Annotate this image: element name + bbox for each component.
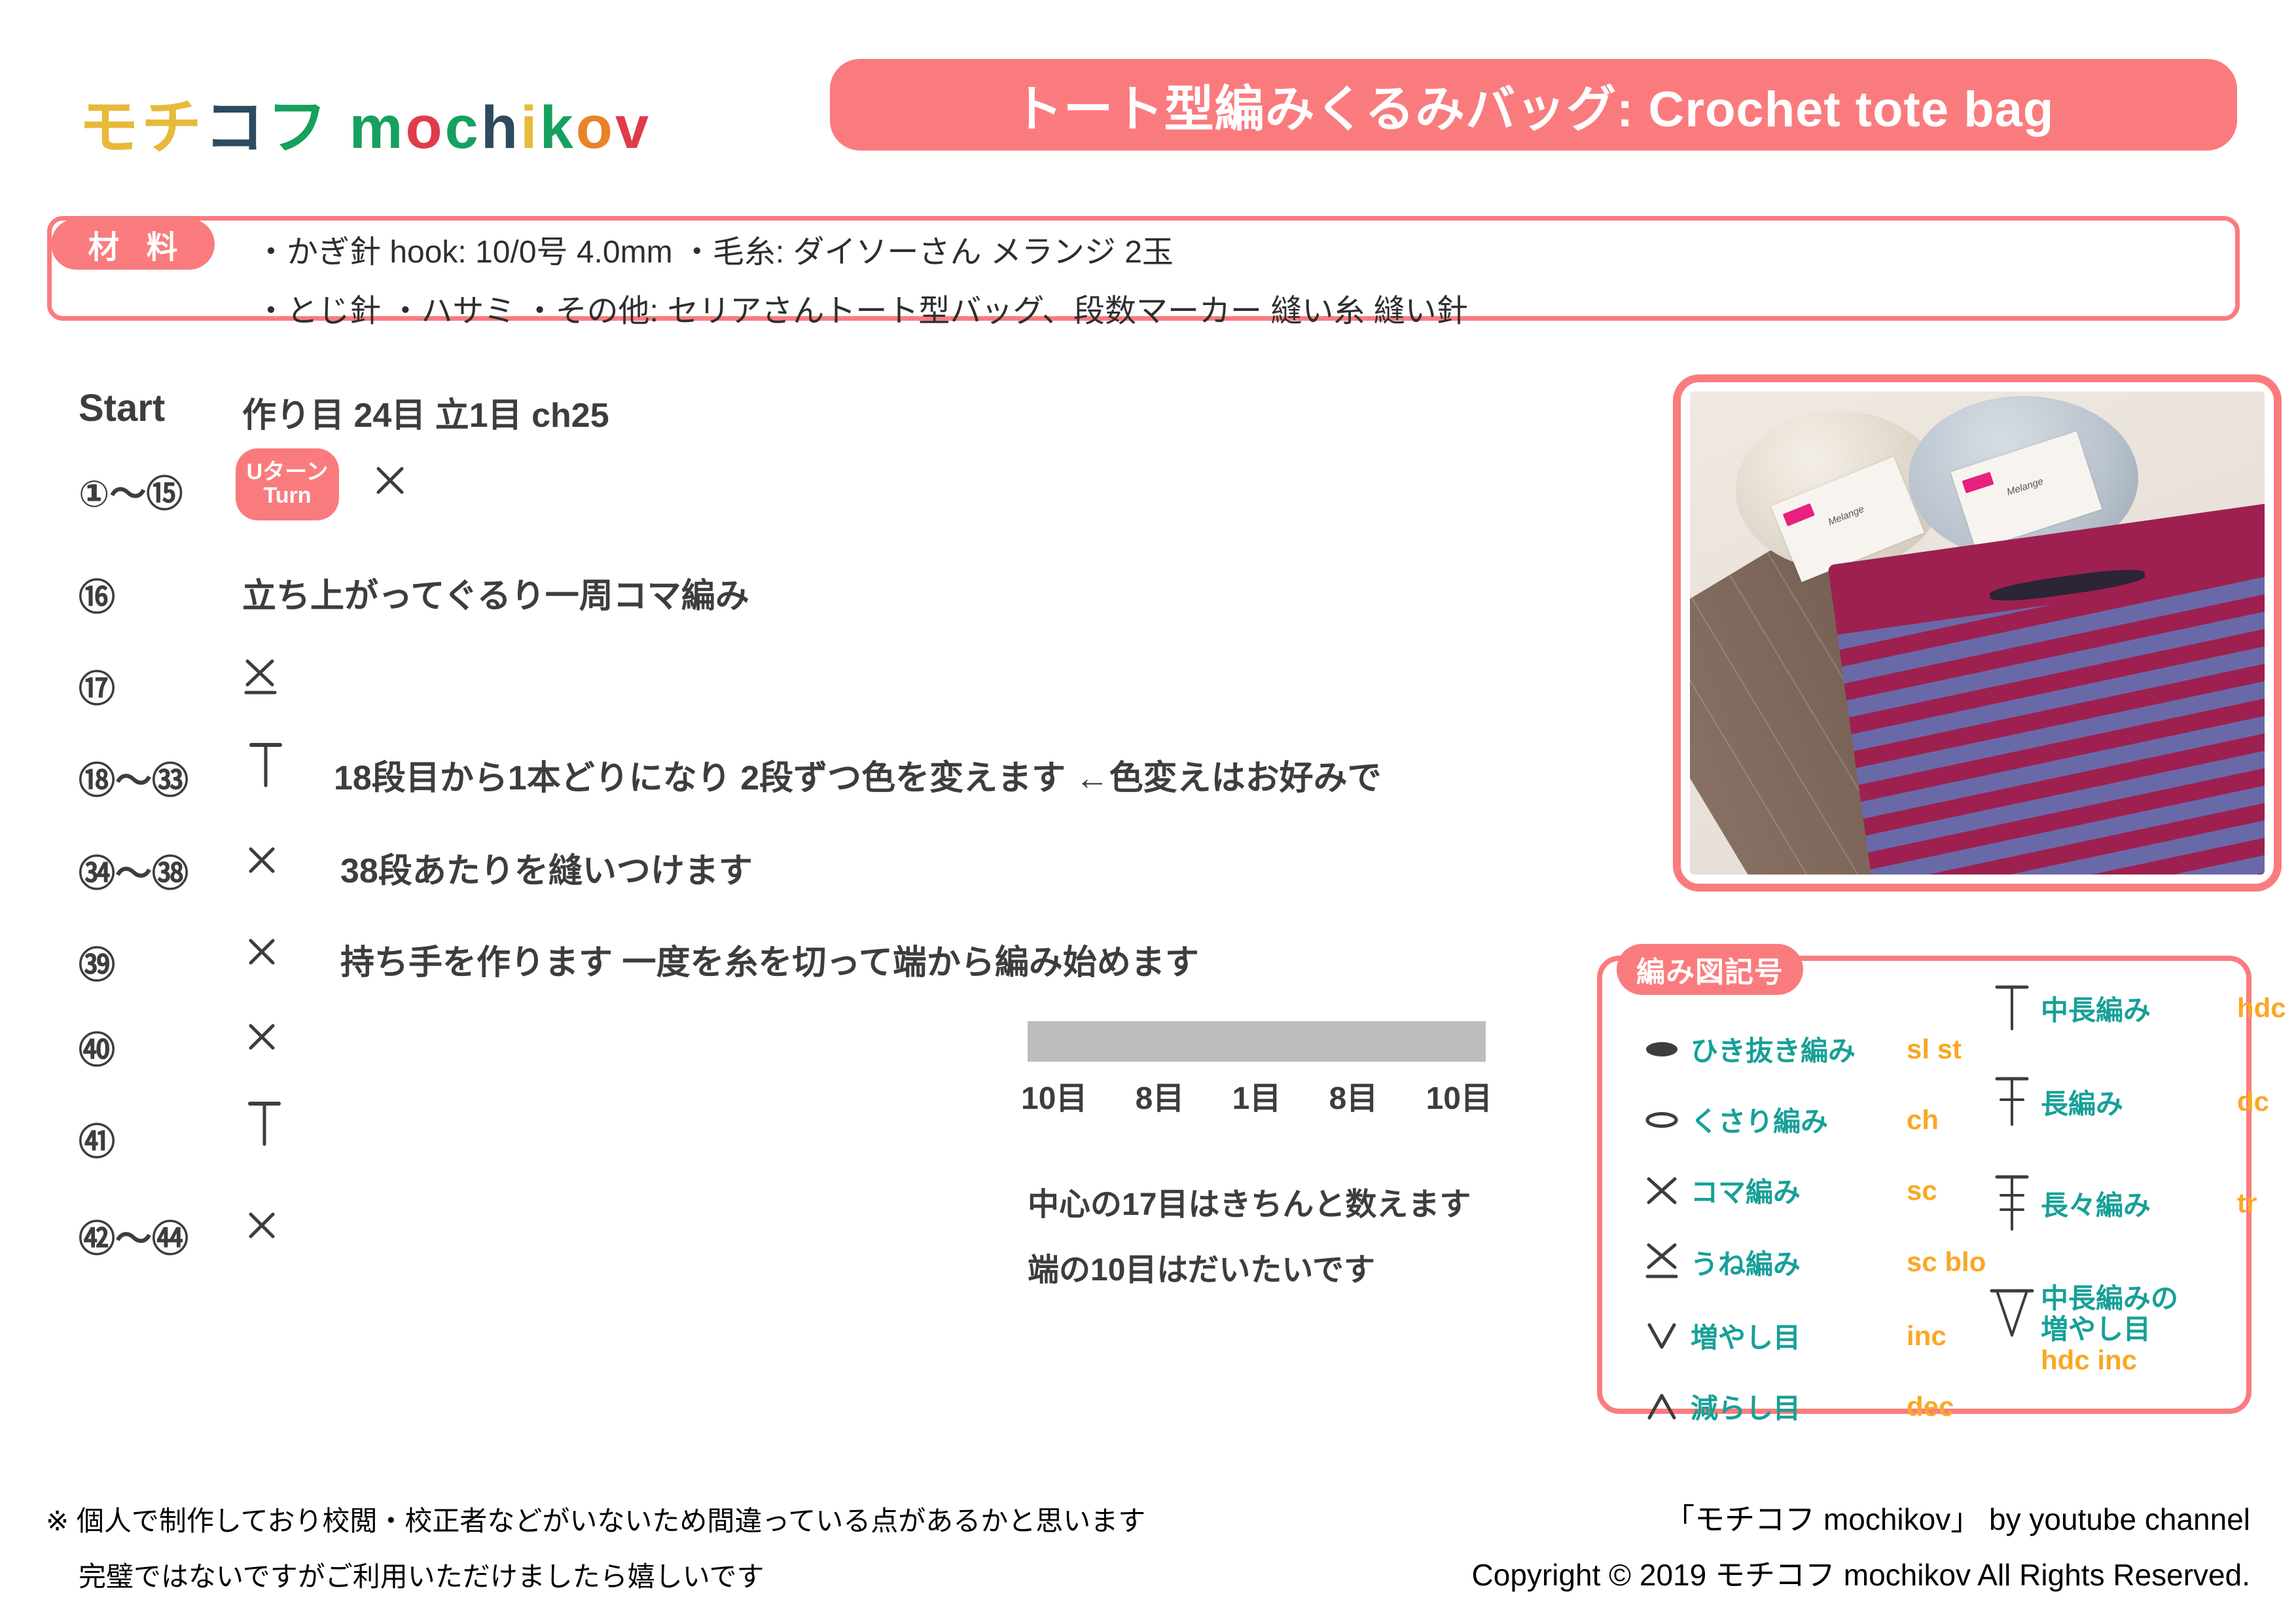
logo-char-4 (330, 94, 350, 162)
handle-note-1: 中心の17目はきちんと数えます (1028, 1178, 1471, 1224)
legend-abbr-sc: sc (1907, 1175, 1937, 1206)
sc-icon (1633, 1174, 1691, 1207)
tr-icon (1983, 1172, 2041, 1235)
legend-item-ch: くさり編み ch (1633, 1100, 1939, 1140)
sc-blo-icon (1633, 1241, 1691, 1283)
logo-char-6: o (405, 94, 444, 162)
materials-label: 材 料 (51, 219, 215, 270)
turn-badge-jp: Uターン (247, 461, 329, 484)
footer-disclaimer-1: ※ 個人で制作しており校閲・校正者などがいないため間違っている点があるかと思いま… (46, 1499, 1145, 1539)
brand-logo: モチコフ mochikov (79, 79, 651, 166)
hdc-icon (247, 740, 284, 789)
handle-count-0: 10目 (1021, 1072, 1087, 1118)
legend-jp-hdc-inc-2: 増やし目 (2041, 1314, 2178, 1344)
sc-icon (246, 844, 278, 876)
row-number-1-15: ①〜⑮ (79, 465, 183, 518)
row-number-34-38: ㉞〜㊳ (79, 844, 188, 897)
footer-disclaimer-2: 完璧ではないですがご利用いただけましたら嬉しいです (79, 1555, 764, 1595)
hdc-icon (1983, 982, 2041, 1034)
handle-count-1: 8目 (1136, 1072, 1185, 1118)
logo-char-7: c (445, 94, 481, 162)
hdc-inc-icon (1983, 1283, 2041, 1342)
row-number-42-44: ㊷〜㊹ (79, 1210, 188, 1263)
legend-abbr-tr: tr (2237, 1187, 2257, 1219)
sc-icon (246, 1021, 278, 1053)
sc-icon (246, 936, 278, 967)
legend-jp-sl-st: ひき抜き編み (1691, 1029, 1907, 1069)
logo-char-0: モ (79, 79, 141, 166)
legend-item-dc: 長編み dc (1983, 1074, 2269, 1130)
legend-jp-inc: 増やし目 (1691, 1316, 1907, 1356)
row-text-18-33: 18段目から1本どりになり 2段ずつ色を変えます ←色変えはお好みで (334, 750, 1382, 799)
sl-st-icon (1633, 1038, 1691, 1060)
start-text: 作り目 24目 立1目 ch25 (242, 388, 609, 437)
footer-copyright: Copyright © 2019 モチコフ mochikov All Right… (1472, 1551, 2250, 1595)
legend-item-hdc: 中長編み hdc (1983, 982, 2286, 1034)
materials-line-1: ・かぎ針 hook: 10/0号 4.0mm ・毛糸: ダイソーさん メランジ … (255, 226, 1174, 272)
legend-jp-hdc: 中長編み (2041, 988, 2237, 1028)
legend-jp-ch: くさり編み (1691, 1100, 1907, 1140)
legend-item-sl-st: ひき抜き編み sl st (1633, 1029, 1962, 1069)
legend-item-inc: 増やし目 inc (1633, 1316, 1946, 1356)
legend-abbr-hdc: hdc (2237, 992, 2286, 1024)
legend-abbr-hdc-inc: hdc inc (2041, 1344, 2178, 1375)
project-photo: Melange Melange (1690, 391, 2265, 875)
title-banner: トート型編みくるみバッグ: Crochet tote bag (830, 59, 2237, 151)
row-number-17: ⑰ (79, 660, 115, 713)
logo-char-3: フ (267, 79, 330, 166)
handle-count-2: 1目 (1232, 1072, 1282, 1118)
logo-char-5: m (350, 94, 406, 162)
legend-jp-tr: 長々編み (2041, 1183, 2237, 1223)
handle-note-2: 端の10目はだいたいです (1028, 1244, 1375, 1290)
logo-char-10: k (540, 94, 576, 162)
legend-abbr-sl-st: sl st (1907, 1034, 1962, 1065)
legend-jp-sc: コマ編み (1691, 1170, 1907, 1210)
handle-diagram-bar (1028, 1021, 1486, 1062)
handle-stitch-counts: 10目8目1目8目10目 (1021, 1072, 1492, 1118)
row-text-34-38: 38段あたりを縫いつけます (340, 843, 753, 892)
legend-item-sc: コマ編み sc (1633, 1170, 1937, 1210)
legend-abbr-ch: ch (1907, 1104, 1939, 1136)
legend-abbr-dec: dec (1907, 1391, 1954, 1422)
inc-icon (1633, 1320, 1691, 1352)
start-label: Start (79, 386, 165, 430)
legend-abbr-sc-blo: sc blo (1907, 1246, 1986, 1278)
row-number-18-33: ⑱〜㉝ (79, 751, 188, 804)
dc-icon (1983, 1074, 2041, 1130)
turn-badge-en: Turn (263, 484, 311, 508)
legend-jp-dc: 長編み (2041, 1082, 2237, 1122)
crochet-tote-bag-photo-element (1827, 501, 2265, 875)
handle-count-4: 10目 (1426, 1072, 1492, 1118)
legend-jp-sc-blo: うね編み (1691, 1242, 1907, 1282)
row-number-41: ㊶ (79, 1113, 115, 1166)
sc-blo-icon (242, 657, 279, 698)
dec-icon (1633, 1390, 1691, 1423)
row-number-40: ㊵ (79, 1021, 115, 1074)
ch-icon (1633, 1109, 1691, 1131)
legend-item-tr: 長々編み tr (1983, 1172, 2257, 1235)
legend-label: 編み図記号 (1617, 944, 1803, 995)
handle-count-3: 8目 (1329, 1072, 1378, 1118)
logo-char-8: h (481, 94, 520, 162)
turn-badge: Uターン Turn (236, 448, 339, 520)
logo-char-2: コ (204, 79, 267, 166)
materials-line-2: ・とじ針 ・ハサミ ・その他: セリアさんトート型バッグ、段数マーカー 縫い糸 … (255, 285, 1468, 331)
row-text-39: 持ち手を作ります 一度を糸を切って端から編み始めます (340, 935, 1199, 984)
row-text-16: 立ち上がってぐるり一周コマ編み (242, 568, 749, 617)
legend-item-sc-blo: うね編み sc blo (1633, 1241, 1986, 1283)
legend-item-dec: 減らし目 dec (1633, 1386, 1954, 1426)
project-photo-frame: Melange Melange (1673, 374, 2282, 892)
logo-char-9: i (520, 94, 540, 162)
footer-credit: 「モチコフ mochikov」 by youtube channel (1664, 1496, 2250, 1539)
logo-char-12: v (615, 94, 651, 162)
logo-char-11: o (576, 94, 615, 162)
row-number-39: ㊴ (79, 936, 115, 989)
legend-jp-hdc-inc-1: 中長編みの (2041, 1283, 2178, 1314)
legend-item-hdc-inc: 中長編みの 増やし目 hdc inc (1983, 1283, 2178, 1375)
row-number-16: ⑯ (79, 568, 115, 621)
legend-jp-dec: 減らし目 (1691, 1386, 1907, 1426)
page-title: トート型編みくるみバッグ: Crochet tote bag (1013, 69, 2054, 141)
sc-icon (373, 463, 407, 497)
legend-abbr-inc: inc (1907, 1320, 1946, 1352)
hdc-icon (246, 1098, 283, 1148)
sc-icon (246, 1210, 278, 1241)
legend-abbr-dc: dc (2237, 1086, 2269, 1117)
logo-char-1: チ (141, 79, 204, 166)
